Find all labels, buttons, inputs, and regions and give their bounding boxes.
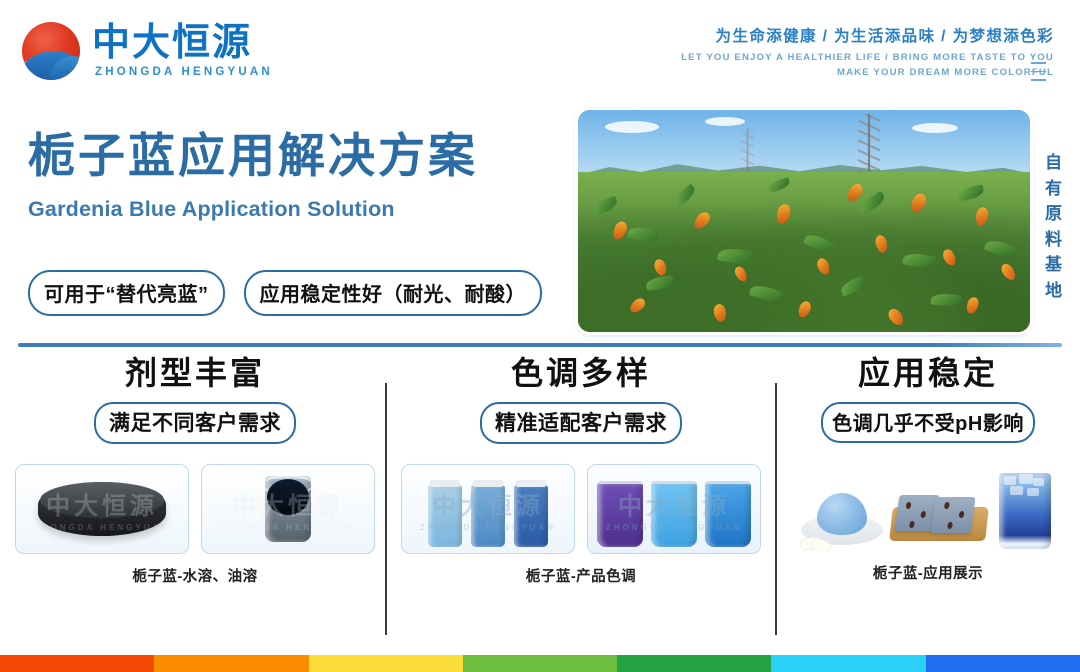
blue-cake-slices-image — [889, 463, 989, 551]
footer-color-2 — [154, 655, 308, 672]
hero-badges: 可用于“替代亮蓝” 应用稳定性好（耐光、耐酸） — [28, 270, 542, 316]
column-2-title: 色调多样 — [392, 355, 770, 392]
photo-vertical-label: 自 有 原 料 基 地 — [1041, 150, 1067, 303]
brand-name-en: ZHONGDA HENGYUAN — [92, 67, 273, 79]
petri-dish-powder-image: 中大恒源 ZHONGDA HENGYUAN — [15, 464, 189, 554]
feature-column-1: 剂型丰富 满足不同客户需求 中大恒源 ZHONGDA HENGYUAN — [10, 355, 380, 586]
column-1-images: 中大恒源 ZHONGDA HENGYUAN 中大恒源 ZHONGDA HENGY… — [10, 464, 380, 554]
footer-color-5 — [617, 655, 771, 672]
slogan-en-line2: MAKE YOUR DREAM MORE COLORFUL — [681, 67, 1054, 79]
slogan-decoration-lines — [1031, 62, 1046, 81]
blue-iced-drink-image — [993, 463, 1057, 551]
footer-color-7 — [926, 655, 1080, 672]
feature-columns: 剂型丰富 满足不同客户需求 中大恒源 ZHONGDA HENGYUAN — [0, 355, 1080, 645]
poster-page: 中大恒源 ZHONGDA HENGYUAN 为生命添健康 / 为生活添品味 / … — [0, 0, 1080, 672]
vertical-char-6: 地 — [1041, 278, 1067, 304]
vertical-char-4: 料 — [1041, 227, 1067, 253]
feature-column-3: 应用稳定 色调几乎不受pH影响 — [782, 355, 1074, 583]
page-subtitle: Gardenia Blue Application Solution — [28, 197, 395, 222]
sun-over-waves-logo-icon — [22, 22, 80, 80]
footer-color-bar — [0, 655, 1080, 672]
color-tone-glasses-image: 中大恒源 ZHONGDA HENGYUAN — [587, 464, 761, 554]
column-2-caption: 栀子蓝-产品色调 — [392, 565, 770, 586]
blue-mousse-cake-image — [799, 463, 885, 551]
footer-color-6 — [771, 655, 925, 672]
section-divider — [18, 343, 1062, 347]
sample-vials-image: 中大恒源 ZHONGDA HENGYUAN — [401, 464, 575, 554]
column-divider-1 — [385, 383, 387, 635]
page-title: 栀子蓝应用解决方案 — [28, 130, 478, 182]
brand-logo: 中大恒源 ZHONGDA HENGYUAN — [22, 22, 273, 80]
column-2-images: 中大恒源 ZHONGDA HENGYUAN 中大恒源 ZHONGDA HENGY… — [392, 464, 770, 554]
vertical-char-1: 自 — [1041, 150, 1067, 176]
column-3-images — [782, 463, 1074, 551]
brand-name-cn: 中大恒源 — [92, 24, 273, 62]
hero-section: 栀子蓝应用解决方案 Gardenia Blue Application Solu… — [0, 100, 1080, 345]
column-1-caption: 栀子蓝-水溶、油溶 — [10, 565, 380, 586]
slogan-en-line1: LET YOU ENJOY A HEALTHIER LIFE / BRING M… — [681, 52, 1054, 64]
page-header: 中大恒源 ZHONGDA HENGYUAN 为生命添健康 / 为生活添品味 / … — [0, 0, 1080, 100]
column-1-title: 剂型丰富 — [10, 355, 380, 392]
column-3-title: 应用稳定 — [782, 355, 1074, 392]
column-2-subtitle: 精准适配客户需求 — [480, 402, 682, 444]
petri-dish-liquid-image: 中大恒源 ZHONGDA HENGYUAN — [201, 464, 375, 554]
footer-color-1 — [0, 655, 154, 672]
footer-color-4 — [463, 655, 617, 672]
column-3-subtitle: 色调几乎不受pH影响 — [821, 402, 1035, 443]
brand-slogan: 为生命添健康 / 为生活添品味 / 为梦想添色彩 LET YOU ENJOY A… — [681, 28, 1054, 79]
plantation-photo — [578, 110, 1030, 332]
column-3-caption: 栀子蓝-应用展示 — [782, 562, 1074, 583]
column-1-subtitle: 满足不同客户需求 — [94, 402, 296, 444]
gardenia-foliage — [578, 159, 1030, 332]
slogan-cn: 为生命添健康 / 为生活添品味 / 为梦想添色彩 — [681, 28, 1054, 47]
hero-badge-2: 应用稳定性好（耐光、耐酸） — [244, 270, 543, 316]
vertical-char-2: 有 — [1041, 176, 1067, 202]
hero-badge-1: 可用于“替代亮蓝” — [28, 270, 225, 316]
vertical-char-5: 基 — [1041, 252, 1067, 278]
column-divider-2 — [775, 383, 777, 635]
footer-color-3 — [309, 655, 463, 672]
feature-column-2: 色调多样 精准适配客户需求 中大恒源 ZHONGDA HENGYUAN — [392, 355, 770, 586]
vertical-char-3: 原 — [1041, 201, 1067, 227]
